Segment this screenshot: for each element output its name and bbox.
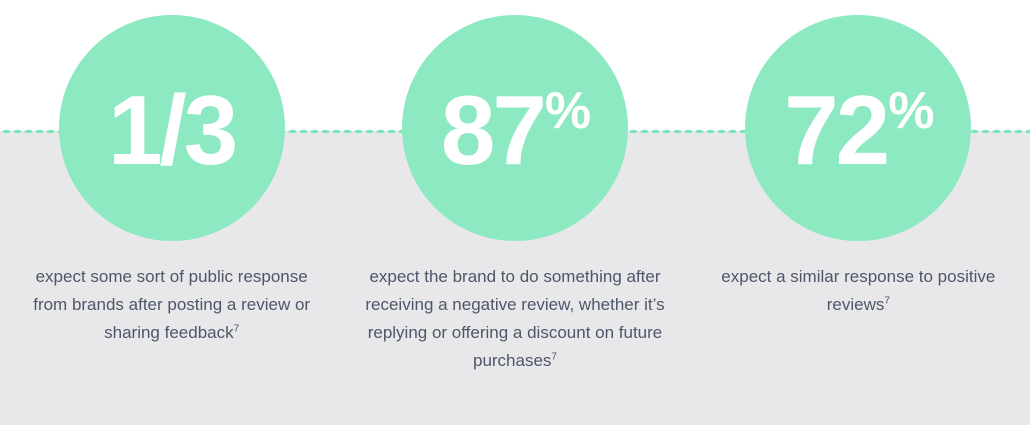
stat-unit-2: % (545, 85, 590, 137)
stat-footnote-marker-3: 7 (884, 295, 890, 306)
stat-circle-1: 1/3 (59, 15, 285, 241)
stat-column-3: 72% expect a similar response to positiv… (687, 0, 1030, 425)
stat-column-1: 1/3 expect some sort of public response … (0, 0, 343, 425)
stat-footnote-marker-2: 7 (551, 351, 557, 362)
stat-column-2: 87% expect the brand to do something aft… (343, 0, 686, 425)
stat-number-2: 87 (441, 81, 544, 179)
stat-caption-2: expect the brand to do something after r… (365, 263, 665, 375)
stat-value-2: 87% (441, 81, 589, 179)
stat-caption-3: expect a similar response to positive re… (708, 263, 1008, 319)
stat-value-3: 72% (784, 81, 932, 179)
stat-caption-text-2: expect the brand to do something after r… (365, 267, 664, 370)
stat-circle-3: 72% (745, 15, 971, 241)
stat-columns: 1/3 expect some sort of public response … (0, 0, 1030, 425)
statistics-infographic: 1/3 expect some sort of public response … (0, 0, 1030, 425)
stat-value-1: 1/3 (108, 81, 235, 179)
stat-caption-text-3: expect a similar response to positive re… (721, 267, 995, 314)
stat-caption-1: expect some sort of public response from… (22, 263, 322, 347)
stat-number-1: 1/3 (108, 81, 235, 179)
stat-circle-2: 87% (402, 15, 628, 241)
stat-footnote-marker-1: 7 (234, 323, 240, 334)
stat-number-3: 72 (784, 81, 887, 179)
stat-unit-3: % (888, 85, 933, 137)
stat-caption-text-1: expect some sort of public response from… (33, 267, 310, 342)
